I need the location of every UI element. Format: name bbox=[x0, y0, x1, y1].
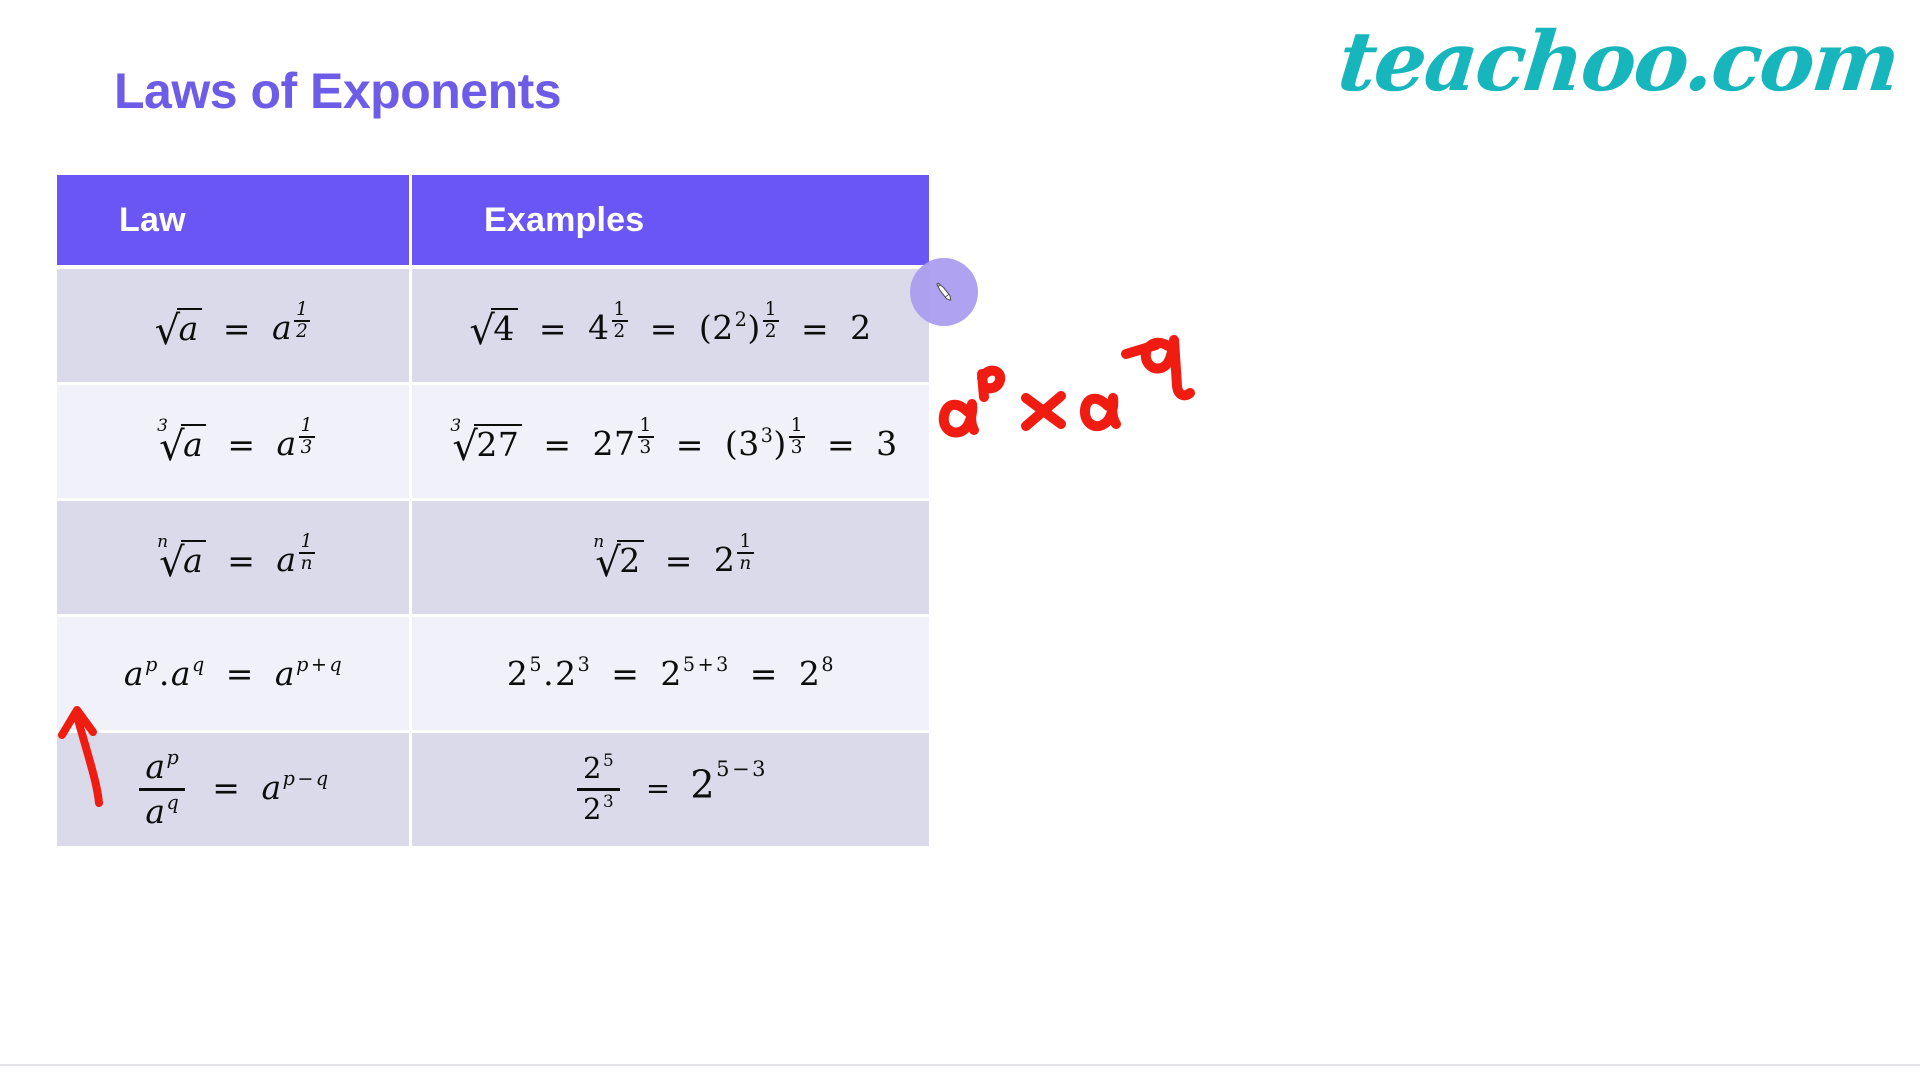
column-header-examples: Examples bbox=[412, 175, 929, 269]
teachoo-logo: teachoo.com bbox=[1334, 14, 1903, 110]
result-base: 2 bbox=[690, 763, 715, 807]
equals-sign: = bbox=[533, 425, 581, 464]
inner-base: 2 bbox=[712, 309, 734, 348]
cell-example-1: √4 = 412 = (22)12 = 2 bbox=[412, 269, 929, 385]
base-2: 2 bbox=[555, 654, 577, 693]
exponent: 13 bbox=[637, 424, 655, 447]
equals-sign: = bbox=[217, 541, 265, 580]
radical-sign: 3√27 bbox=[452, 422, 522, 467]
base-1: a bbox=[124, 654, 144, 693]
pencil-icon bbox=[927, 275, 961, 309]
equals-sign: = bbox=[640, 309, 688, 348]
close-paren: ) bbox=[747, 309, 760, 348]
slide-bottom-divider bbox=[0, 1064, 1920, 1066]
result-exponent: 8 bbox=[821, 653, 834, 676]
denominator-base: a bbox=[145, 792, 165, 831]
handwriting-annotation bbox=[930, 300, 1250, 460]
laws-of-exponents-table: Law Examples √a = a12 √4 = 4 bbox=[57, 175, 929, 846]
table-row: apaq = ap−q 2523 = 25−3 bbox=[57, 733, 929, 846]
formula-quotient-law: apaq = ap−q bbox=[137, 749, 328, 831]
open-paren: ( bbox=[725, 425, 738, 464]
equals-sign: = bbox=[202, 768, 250, 807]
result-exponent: 5−3 bbox=[716, 757, 766, 781]
mid-base: 2 bbox=[660, 654, 682, 693]
close-paren: ) bbox=[773, 425, 786, 464]
equals-sign: = bbox=[217, 425, 265, 464]
equals-sign: = bbox=[666, 425, 714, 464]
radical-sign: √4 bbox=[469, 306, 518, 351]
formula-product-example: 25.23 = 25+3 = 28 bbox=[507, 657, 834, 690]
formula-nthroot-law: n√a = a1n bbox=[150, 532, 316, 582]
result: 3 bbox=[876, 425, 898, 464]
exponent: 1n bbox=[736, 540, 754, 563]
formula-product-law: ap.aq = ap+q bbox=[124, 657, 342, 690]
result-exponent: p+q bbox=[296, 653, 342, 676]
radicand: 4 bbox=[491, 308, 518, 345]
inner-exponent: 2 bbox=[735, 308, 748, 331]
cell-example-2: 3√27 = 2713 = (33)13 = 3 bbox=[412, 385, 929, 501]
radical-sign: 3√a bbox=[159, 422, 206, 467]
table-row: 3√a = a13 3√27 = 2713 = (33)13 = 3 bbox=[57, 385, 929, 501]
equals-sign: = bbox=[655, 541, 703, 580]
cell-law-5: apaq = ap−q bbox=[57, 733, 412, 846]
formula-cbrt-example: 3√27 = 2713 = (33)13 = 3 bbox=[443, 416, 897, 466]
formula-sqrt-example: √4 = 412 = (22)12 = 2 bbox=[469, 300, 871, 350]
base: 2 bbox=[714, 541, 736, 580]
radicand: a bbox=[177, 308, 202, 345]
pen-tool-cursor[interactable] bbox=[910, 258, 978, 326]
base: a bbox=[276, 425, 296, 464]
table-row: n√a = a1n n√2 = 21n bbox=[57, 501, 929, 617]
mid-exponent: 5+3 bbox=[683, 653, 729, 676]
multiplication-dot: . bbox=[542, 654, 555, 693]
denominator-exponent: 3 bbox=[603, 791, 614, 811]
radical-index: n bbox=[157, 534, 168, 551]
radicand: a bbox=[181, 540, 206, 577]
slide-canvas: Laws of Exponents teachoo.com Law Exampl… bbox=[0, 0, 1920, 1080]
base: a bbox=[272, 309, 292, 348]
cell-law-3: n√a = a1n bbox=[57, 501, 412, 617]
outer-exponent: 12 bbox=[762, 308, 780, 331]
radical-sign: √a bbox=[155, 306, 202, 351]
numerator-exponent: 5 bbox=[603, 750, 614, 770]
base: 27 bbox=[593, 425, 636, 464]
open-paren: ( bbox=[699, 309, 712, 348]
fraction: 2523 bbox=[577, 753, 620, 826]
base: a bbox=[276, 541, 296, 580]
equals-sign: = bbox=[817, 425, 865, 464]
table-row: √a = a12 √4 = 412 = (22)12 = 2 bbox=[57, 269, 929, 385]
column-header-law: Law bbox=[57, 175, 412, 269]
equals-sign: = bbox=[636, 771, 681, 805]
base-1: 2 bbox=[507, 654, 529, 693]
formula-quotient-example: 2523 = 25−3 bbox=[575, 753, 766, 826]
denominator-exponent: q bbox=[167, 791, 180, 814]
equals-sign: = bbox=[216, 654, 264, 693]
inner-base: 3 bbox=[738, 425, 760, 464]
cell-law-1: √a = a12 bbox=[57, 269, 412, 385]
denominator-base: 2 bbox=[583, 792, 602, 826]
cell-law-2: 3√a = a13 bbox=[57, 385, 412, 501]
numerator-base: 2 bbox=[583, 751, 602, 785]
base: 4 bbox=[588, 309, 610, 348]
exponent: 12 bbox=[611, 308, 629, 331]
page-title: Laws of Exponents bbox=[114, 62, 561, 120]
cell-law-4: ap.aq = ap+q bbox=[57, 617, 412, 733]
result-exponent: p−q bbox=[283, 767, 329, 790]
result-base: a bbox=[275, 654, 295, 693]
inner-exponent: 3 bbox=[761, 424, 774, 447]
radical-sign: n√a bbox=[159, 538, 206, 583]
exponent-1: 5 bbox=[529, 653, 542, 676]
formula-cbrt-law: 3√a = a13 bbox=[150, 416, 316, 466]
exponent-1: p bbox=[145, 653, 158, 676]
result-base: 2 bbox=[799, 654, 821, 693]
radical-index: n bbox=[593, 534, 604, 551]
radicand: a bbox=[181, 424, 206, 461]
cell-example-5: 2523 = 25−3 bbox=[412, 733, 929, 846]
cell-example-3: n√2 = 21n bbox=[412, 501, 929, 617]
multiplication-dot: . bbox=[158, 654, 171, 693]
exponent: 1n bbox=[298, 540, 316, 563]
result-base: a bbox=[261, 768, 281, 807]
equals-sign: = bbox=[791, 309, 839, 348]
cell-example-4: 25.23 = 25+3 = 28 bbox=[412, 617, 929, 733]
radical-sign: n√2 bbox=[595, 538, 644, 583]
numerator-exponent: p bbox=[167, 746, 180, 769]
radicand: 27 bbox=[474, 424, 522, 461]
radical-index: 3 bbox=[450, 418, 461, 435]
equals-sign: = bbox=[213, 309, 261, 348]
outer-exponent: 13 bbox=[788, 424, 806, 447]
formula-nthroot-example: n√2 = 21n bbox=[586, 532, 754, 582]
exponent: 13 bbox=[298, 424, 316, 447]
exponent-2: q bbox=[192, 653, 205, 676]
formula-sqrt-law: √a = a12 bbox=[155, 300, 312, 350]
table-header-row: Law Examples bbox=[57, 175, 929, 269]
exponent-2: 3 bbox=[578, 653, 591, 676]
radical-index: 3 bbox=[157, 418, 168, 435]
fraction: apaq bbox=[139, 749, 185, 831]
equals-sign: = bbox=[529, 309, 577, 348]
table-row: ap.aq = ap+q 25.23 = 25+3 = 28 bbox=[57, 617, 929, 733]
base-2: a bbox=[171, 654, 191, 693]
result: 2 bbox=[850, 309, 872, 348]
radicand: 2 bbox=[617, 540, 644, 577]
exponent: 12 bbox=[293, 308, 311, 331]
equals-sign: = bbox=[601, 654, 649, 693]
numerator-base: a bbox=[145, 747, 165, 786]
equals-sign: = bbox=[740, 654, 788, 693]
